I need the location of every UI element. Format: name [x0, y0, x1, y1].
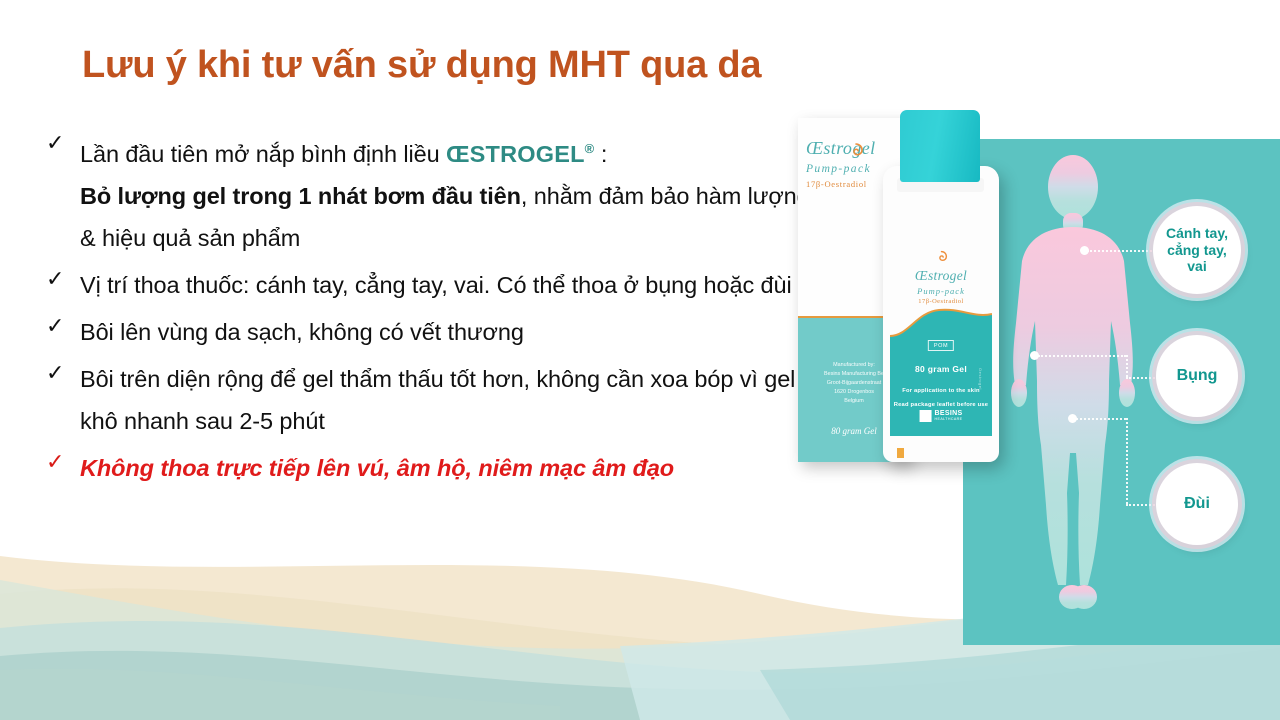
bottle-side-text: Oestrogel: [978, 368, 983, 390]
spiral-icon: [848, 142, 864, 158]
besins-logo: BESINS HEALTHCARE: [920, 410, 963, 422]
callout-abdomen[interactable]: Bụng: [1156, 335, 1238, 417]
brand-name-oestrogel: ŒSTROGEL®: [446, 141, 594, 167]
bottle-cap: [900, 110, 980, 182]
bottle-instruction-1: For application to the skin: [890, 388, 992, 394]
bottle-molecule: 17β-Oestradiol: [883, 298, 999, 305]
check-icon: ✓: [46, 130, 64, 156]
bottle-weight: 80 gram Gel: [890, 364, 992, 374]
slide: Lưu ý khi tư vấn sử dụng MHT qua da ✓ Lầ…: [0, 0, 1280, 720]
check-icon: ✓: [46, 449, 64, 475]
list-item: ✓ Bôi lên vùng da sạch, không có vết thư…: [44, 311, 814, 353]
connector-abdomen-h1: [1038, 355, 1126, 357]
connector-abdomen-v: [1126, 355, 1128, 377]
list-item-text: Không thoa trực tiếp lên vú, âm hộ, niêm…: [80, 447, 814, 489]
label-wave: [890, 306, 992, 340]
bullet-1-colon: :: [594, 141, 607, 167]
check-icon: ✓: [46, 313, 64, 339]
bottle-body: Œstrogel Pump-pack 17β-Oestradiol POM 80…: [883, 166, 999, 462]
bottle-subtitle: Pump-pack: [883, 286, 999, 296]
list-item-text: Vị trí thoa thuốc: cánh tay, cẳng tay, v…: [80, 264, 814, 306]
besins-company-sub: HEALTHCARE: [935, 418, 963, 422]
list-item: ✓ Lần đầu tiên mở nắp bình định liều ŒST…: [44, 128, 814, 259]
bullet-1-bold-phrase: Bỏ lượng gel trong 1 nhát bơm đầu tiên: [80, 183, 521, 209]
callout-thigh[interactable]: Đùi: [1156, 463, 1238, 545]
callout-abdomen-label: Bụng: [1177, 367, 1218, 386]
list-item-text: Bôi lên vùng da sạch, không có vết thươn…: [80, 311, 814, 353]
product-bottle: Œstrogel Pump-pack 17β-Oestradiol POM 80…: [883, 110, 999, 462]
bottle-pom-badge: POM: [928, 340, 954, 351]
list-item: ✓ Vị trí thoa thuốc: cánh tay, cẳng tay,…: [44, 264, 814, 306]
connector-thigh-h1: [1076, 418, 1126, 420]
bottle-instruction-2: Read package leaflet before use: [890, 402, 992, 408]
list-item-text: Lần đầu tiên mở nắp bình định liều ŒSTRO…: [80, 128, 814, 259]
product-artwork: Cánh tay, cẳng tay, vai Bụng Đùi Œstroge…: [790, 108, 1280, 648]
registered-trademark-symbol: ®: [585, 141, 595, 156]
bottle-logo-block: Œstrogel Pump-pack 17β-Oestradiol: [883, 250, 999, 305]
list-item: ✓ Bôi trên diện rộng để gel thẩm thấu tố…: [44, 358, 814, 442]
bullet-list: ✓ Lần đầu tiên mở nắp bình định liều ŒST…: [44, 128, 814, 494]
callout-thigh-label: Đùi: [1184, 495, 1210, 514]
besins-mark-icon: [920, 410, 932, 422]
callout-arms[interactable]: Cánh tay, cẳng tay, vai: [1153, 206, 1241, 294]
bottle-label: POM 80 gram Gel For application to the s…: [890, 306, 992, 436]
connector-abdomen-h2: [1126, 377, 1158, 379]
connector-thigh-h2: [1126, 504, 1158, 506]
callout-arms-label: Cánh tay, cẳng tay, vai: [1166, 225, 1228, 275]
bottle-orange-tab: [897, 448, 904, 458]
check-icon: ✓: [46, 266, 64, 292]
list-item-text: Bôi trên diện rộng để gel thẩm thấu tốt …: [80, 358, 814, 442]
spiral-icon: [935, 250, 948, 263]
human-silhouette: [988, 153, 1158, 633]
connector-thigh-v: [1126, 418, 1128, 504]
besins-text: BESINS HEALTHCARE: [935, 410, 963, 421]
bullet-1-part-a: Lần đầu tiên mở nắp bình định liều: [80, 141, 446, 167]
list-item-warning: ✓ Không thoa trực tiếp lên vú, âm hộ, ni…: [44, 447, 814, 489]
page-title: Lưu ý khi tư vấn sử dụng MHT qua da: [82, 44, 761, 87]
bottle-brand: Œstrogel: [883, 268, 999, 284]
check-icon: ✓: [46, 360, 64, 386]
connector-arms: [1087, 250, 1155, 252]
